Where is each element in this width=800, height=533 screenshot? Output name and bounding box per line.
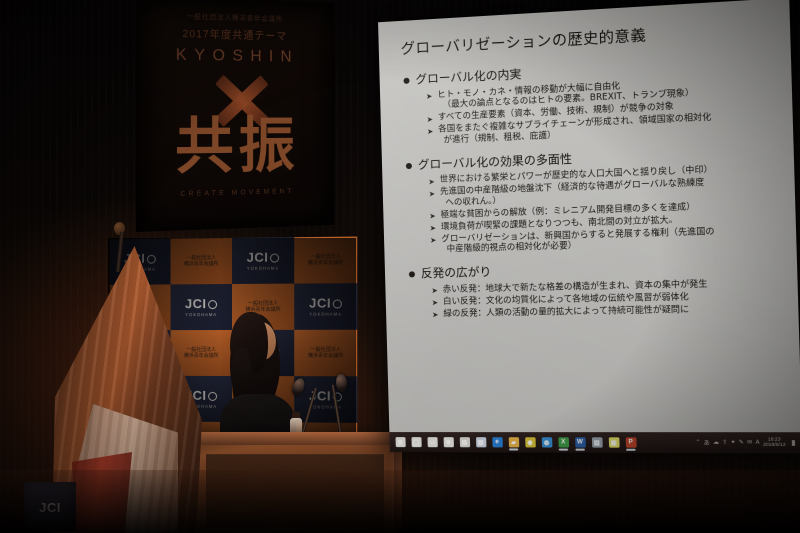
explorer-window-icon-glyph: ▤	[591, 437, 602, 447]
slide-title: グローバリゼーションの歴史的意義	[400, 20, 774, 59]
bluetooth-icon[interactable]: ✦	[730, 440, 735, 446]
task-view-icon-glyph: ▭	[427, 437, 437, 447]
arrow-bullet-icon: ➤	[426, 93, 433, 101]
banner-organization-name: 一般社団法人横浜青年会議所	[136, 10, 329, 26]
clock-date: 2018/6/12	[763, 443, 786, 448]
bullet-dot-icon	[406, 162, 412, 168]
venue-theme-banner: 一般社団法人横浜青年会議所 2017年度共通テーマ KYOSHIN 共振 CRE…	[136, 0, 335, 232]
jci-city-label: YOKOHAMA	[247, 266, 279, 271]
bullet-dot-icon	[409, 271, 415, 277]
mail-icon[interactable]: ✉	[747, 440, 752, 446]
slide-section-heading-text: 反発の広がり	[421, 265, 492, 281]
word-icon[interactable]: W	[572, 435, 588, 450]
arrow-bullet-icon: ➤	[430, 225, 437, 233]
cortana-search-icon-glyph: ◯	[411, 437, 421, 447]
jci-logo: JCI	[309, 296, 342, 309]
show-hidden-icons-chevron[interactable]: ⌃	[695, 440, 700, 446]
backdrop-org-text: 一般社団法人横浜青年会議所	[184, 255, 219, 268]
slide-body: グローバル化の内実➤ヒト・モノ・カネ・情報の移動が大幅に自由化（最大の論点となる…	[395, 54, 783, 320]
jci-logo: JCI	[185, 297, 217, 310]
sticky-notes-icon[interactable]: ▣	[606, 435, 622, 451]
file-explorer-icon[interactable]: ▰	[506, 435, 522, 450]
ime-mode-icon[interactable]: あ	[704, 438, 710, 446]
arrow-bullet-icon: ➤	[427, 115, 434, 123]
start-button-glyph: ⊞	[395, 437, 405, 447]
bullet-dot-icon	[403, 78, 409, 84]
settings-gear-icon-glyph: ✸	[443, 437, 453, 447]
windows-taskbar[interactable]: ⊞◯▭✸▤▤e▰◉◍XW▤▣P ⌃あ☁⇪✦✎✉A 18:23 2018/6/12…	[389, 432, 800, 453]
notepad-icon-glyph: ▤	[475, 437, 485, 447]
usb-safely-remove-icon[interactable]: ⇪	[722, 440, 727, 446]
store-icon[interactable]: ▤	[457, 435, 473, 450]
arrow-bullet-icon: ➤	[429, 190, 436, 198]
chrome-browser-icon-glyph: ◉	[525, 437, 536, 447]
slide-section-heading-text: グローバル化の効果の多面性	[418, 151, 573, 172]
jci-city-label: YOKOHAMA	[309, 312, 342, 317]
arrow-bullet-icon: ➤	[428, 178, 435, 186]
banner-tagline: CREATE MOVEMENT	[136, 187, 335, 199]
edge-browser-icon[interactable]: e	[489, 435, 505, 450]
banner-theme-romaji: KYOSHIN	[136, 44, 335, 67]
backdrop-org-text: 一般社団法人横浜青年会議所	[308, 347, 344, 360]
onedrive-icon[interactable]: ☁	[713, 440, 719, 446]
jci-logo: JCI	[247, 251, 280, 264]
slide-section: 反発の広がり➤赤い反発：地球大で新たな格差の構造が生まれ、資本の集中が発生➤白い…	[401, 258, 783, 320]
sticky-notes-icon-glyph: ▣	[608, 437, 619, 447]
backdrop-panel: JCIYOKOHAMA	[232, 237, 294, 284]
banner-theme-kanji: 共振	[136, 116, 335, 178]
taskbar-clock[interactable]: 18:23 2018/6/12	[763, 438, 786, 448]
arrow-bullet-icon: ➤	[430, 237, 437, 245]
start-button[interactable]: ⊞	[392, 435, 407, 450]
task-view-icon[interactable]: ▭	[424, 435, 439, 450]
stage-floor-glow	[0, 470, 800, 533]
cortana-search-icon[interactable]: ◯	[408, 435, 423, 450]
slide-section: グローバル化の効果の多面性➤世界における繁栄とパワーが歴史的な人口大国へと揺り戻…	[398, 143, 781, 256]
backdrop-org-text: 一般社団法人横浜青年会議所	[184, 347, 219, 359]
store-icon-glyph: ▤	[459, 437, 469, 447]
settings-gear-icon[interactable]: ✸	[440, 435, 456, 450]
arrow-bullet-icon: ➤	[432, 311, 439, 319]
jci-city-label: YOKOHAMA	[185, 312, 217, 317]
backdrop-panel: JCIYOKOHAMA	[294, 283, 357, 330]
projection-screen: グローバリゼーションの歴史的意義 グローバル化の内実➤ヒト・モノ・カネ・情報の移…	[378, 0, 800, 453]
powerpoint-icon[interactable]: P	[622, 435, 638, 451]
slide-section-heading-text: グローバル化の内実	[415, 67, 521, 87]
word-icon-glyph: W	[575, 437, 586, 447]
explorer-window-icon[interactable]: ▤	[589, 435, 605, 451]
backdrop-org-text: 一般社団法人横浜青年会議所	[308, 254, 344, 267]
presenter-figure	[224, 308, 294, 448]
podium-top-surface	[196, 432, 394, 445]
notepad-icon[interactable]: ▤	[473, 435, 489, 450]
file-explorer-icon-glyph: ▰	[508, 437, 519, 447]
presentation-slide: グローバリゼーションの歴史的意義 グローバル化の内実➤ヒト・モノ・カネ・情報の移…	[378, 0, 800, 432]
backdrop-panel: 一般社団法人横浜青年会議所	[294, 330, 357, 377]
conference-hall-photo: 一般社団法人横浜青年会議所 2017年度共通テーマ KYOSHIN 共振 CRE…	[0, 0, 800, 533]
arrow-bullet-icon: ➤	[431, 287, 438, 295]
edge-browser-icon-glyph: e	[492, 437, 503, 447]
powerpoint-icon-glyph: P	[625, 437, 636, 447]
arrow-bullet-icon: ➤	[429, 212, 436, 220]
projection-screen-wrapper: グローバリゼーションの歴史的意義 グローバル化の内実➤ヒト・モノ・カネ・情報の移…	[378, 0, 800, 453]
excel-icon[interactable]: X	[555, 435, 571, 450]
arrow-bullet-icon: ➤	[432, 299, 439, 307]
banner-year-theme: 2017年度共通テーマ	[136, 24, 329, 44]
keyboard-layout-icon[interactable]: A	[756, 440, 760, 446]
backdrop-panel: 一般社団法人横浜青年会議所	[171, 238, 232, 284]
backdrop-panel: JCIYOKOHAMA	[171, 284, 232, 330]
show-desktop-button[interactable]: ▮	[789, 435, 798, 451]
chrome-browser-icon[interactable]: ◉	[522, 435, 538, 450]
slide-section: グローバル化の内実➤ヒト・モノ・カネ・情報の移動が大幅に自由化（最大の論点となる…	[395, 54, 777, 147]
arrow-bullet-icon: ➤	[427, 127, 434, 135]
system-tray[interactable]: ⌃あ☁⇪✦✎✉A 18:23 2018/6/12 ▮	[695, 435, 800, 451]
skype-icon[interactable]: ◍	[539, 435, 555, 450]
backdrop-panel: 一般社団法人横浜青年会議所	[294, 237, 357, 284]
skype-icon-glyph: ◍	[541, 437, 552, 447]
antivirus-icon[interactable]: ✎	[739, 440, 744, 446]
excel-icon-glyph: X	[558, 437, 569, 447]
